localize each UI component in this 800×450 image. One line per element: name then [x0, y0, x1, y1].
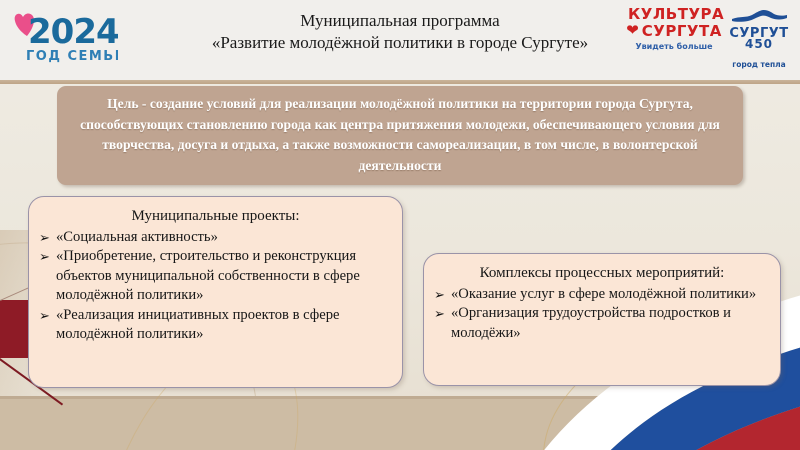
- list-item: ➢ «Приобретение, строительство и реконст…: [39, 247, 392, 305]
- arrow-bullet-icon: ➢: [434, 304, 445, 323]
- culture-logo-line2: СУРГУТА: [642, 23, 722, 40]
- culture-logo-line1: КУЛЬТУРА: [628, 6, 720, 23]
- list-item-label: «Приобретение, строительство и реконстру…: [56, 248, 360, 303]
- title-line-1: Муниципальная программа: [150, 10, 650, 32]
- culture-surgut-logo: КУЛЬТУРА ❤ СУРГУТА Увидеть больше: [628, 6, 720, 51]
- arrow-bullet-icon: ➢: [39, 247, 50, 266]
- surgut-logo-subtitle: город тепла: [726, 60, 792, 69]
- list-item: ➢ «Реализация инициативных проектов в сф…: [39, 306, 392, 345]
- year-of-family-logo: 2024 ГОД СЕМЬИ: [14, 6, 118, 68]
- culture-logo-row2: ❤ СУРГУТА: [628, 23, 720, 40]
- surgut-450-logo: СУРГУТ 450 город тепла: [726, 6, 792, 69]
- list-item-label: «Организация трудоустройства подростков …: [451, 305, 731, 340]
- municipal-projects-list: ➢ «Социальная активность» ➢ «Приобретени…: [39, 228, 392, 344]
- heart-icon: ❤: [626, 24, 639, 39]
- slide-root: 2024 ГОД СЕМЬИ Муниципальная программа «…: [0, 0, 800, 450]
- fox-icon: [732, 10, 787, 22]
- program-goal-box: Цель - создание условий для реализации м…: [57, 86, 743, 185]
- list-item: ➢ «Оказание услуг в сфере молодёжной пол…: [434, 285, 770, 304]
- svg-text:2024: 2024: [28, 12, 118, 52]
- list-item-label: «Оказание услуг в сфере молодёжной полит…: [451, 286, 756, 302]
- list-item-label: «Социальная активность»: [56, 229, 218, 245]
- list-item: ➢ «Социальная активность»: [39, 228, 392, 247]
- partner-logos: КУЛЬТУРА ❤ СУРГУТА Увидеть больше СУРГУТ…: [628, 6, 792, 72]
- arrow-bullet-icon: ➢: [434, 285, 445, 304]
- process-activities-list: ➢ «Оказание услуг в сфере молодёжной пол…: [434, 285, 770, 343]
- municipal-projects-title: Муниципальные проекты:: [39, 206, 392, 226]
- svg-text:450: 450: [745, 37, 773, 51]
- surgut-logo-mark: СУРГУТ 450: [726, 6, 792, 54]
- process-activities-title: Комплексы процессных мероприятий:: [434, 263, 770, 283]
- header-divider: [0, 80, 800, 84]
- svg-text:ГОД СЕМЬИ: ГОД СЕМЬИ: [26, 49, 118, 64]
- arrow-bullet-icon: ➢: [39, 306, 50, 325]
- arrow-bullet-icon: ➢: [39, 228, 50, 247]
- title-line-2: «Развитие молодёжной политики в городе С…: [150, 32, 650, 54]
- list-item-label: «Реализация инициативных проектов в сфер…: [56, 307, 339, 342]
- list-item: ➢ «Организация трудоустройства подростко…: [434, 304, 770, 343]
- process-activities-card: Комплексы процессных мероприятий: ➢ «Ока…: [423, 253, 781, 386]
- page-title: Муниципальная программа «Развитие молодё…: [150, 10, 650, 54]
- culture-logo-subtitle: Увидеть больше: [628, 42, 720, 51]
- municipal-projects-card: Муниципальные проекты: ➢ «Социальная акт…: [28, 196, 403, 388]
